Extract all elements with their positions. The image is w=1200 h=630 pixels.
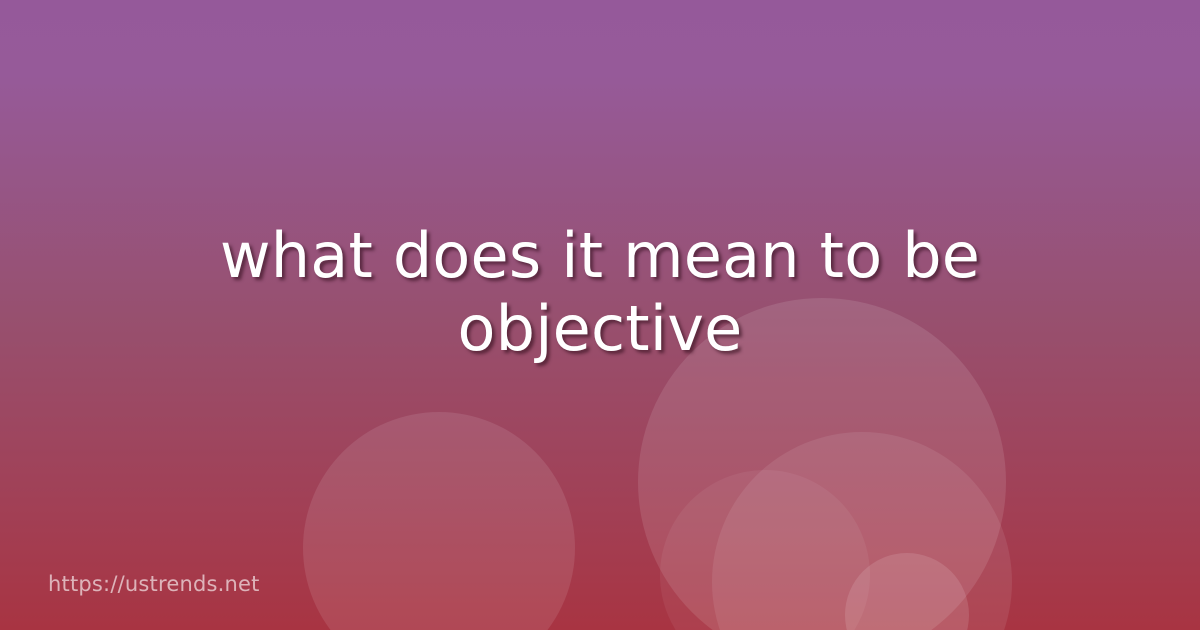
site-url-link[interactable]: https://ustrends.net <box>48 572 260 596</box>
headline-container: what does it mean to be objective <box>0 0 1200 630</box>
social-share-card: what does it mean to be objective https:… <box>0 0 1200 630</box>
page-title: what does it mean to be objective <box>185 219 1015 411</box>
